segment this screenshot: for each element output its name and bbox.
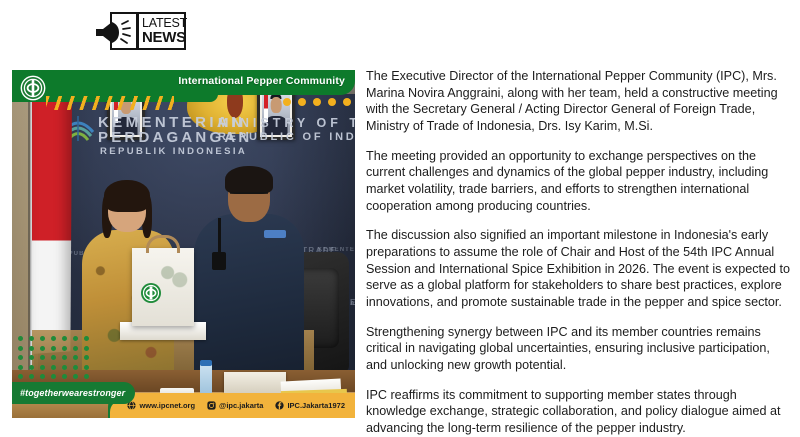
dot <box>40 374 45 379</box>
dot <box>51 355 56 360</box>
photo-footer-bar: www.ipcnet.org @ipc.jakarta IPC.Jakarta1… <box>120 393 355 418</box>
instagram-label: @ipc.jakarta <box>219 401 263 410</box>
ipc-tote-bag <box>132 248 194 326</box>
dot <box>62 336 67 341</box>
footer-link-website[interactable]: www.ipcnet.org <box>127 397 195 415</box>
tote-artwork <box>158 260 190 296</box>
backdrop-ministry-id-3: REPUBLIK INDONESIA <box>100 146 247 157</box>
dot <box>18 365 23 370</box>
person-lanyard <box>218 218 221 256</box>
person-glasses <box>230 192 268 203</box>
dot <box>84 346 89 351</box>
dot <box>40 365 45 370</box>
ipc-logo-icon <box>20 75 46 101</box>
dot <box>18 346 23 351</box>
ipc-logo-icon <box>140 282 162 304</box>
badge-divider <box>136 12 139 50</box>
dot <box>29 346 34 351</box>
backdrop-ministry-en-1: MINISTRY OF TRADE <box>218 116 355 130</box>
article-paragraph: Strengthening synergy between IPC and it… <box>366 324 794 374</box>
dot <box>29 355 34 360</box>
dot <box>40 346 45 351</box>
backdrop-ministry-en-2: REPUBLIC OF INDONESIA <box>218 131 355 143</box>
shirt-logo <box>264 230 286 238</box>
website-label: www.ipcnet.org <box>139 401 195 410</box>
facebook-icon <box>275 397 284 415</box>
dot <box>51 336 56 341</box>
instagram-icon <box>207 397 216 415</box>
hashtag-label: #togetherwearestronger <box>20 388 125 398</box>
megaphone-icon <box>92 18 136 46</box>
photo-header-title: International Pepper Community <box>178 75 345 87</box>
badge-line-news: NEWS <box>142 30 186 45</box>
dot <box>40 336 45 341</box>
person-id-badge <box>212 252 226 270</box>
footer-link-instagram[interactable]: @ipc.jakarta <box>207 397 263 415</box>
dot <box>51 374 56 379</box>
indonesian-flag <box>32 84 72 354</box>
latest-news-badge: LATEST NEWS <box>92 10 188 52</box>
dot <box>298 98 306 106</box>
facebook-label: IPC.Jakarta1972 <box>287 401 345 410</box>
dot <box>73 374 78 379</box>
person-hair-top <box>104 180 150 212</box>
dot <box>40 355 45 360</box>
water-bottle <box>200 362 212 394</box>
dot <box>51 346 56 351</box>
dot <box>29 374 34 379</box>
badge-text: LATEST NEWS <box>142 15 186 47</box>
article-paragraph: The meeting provided an opportunity to e… <box>366 148 794 215</box>
article-paragraph: IPC reaffirms its commitment to supporti… <box>366 387 794 437</box>
dot <box>62 346 67 351</box>
article-body: The Executive Director of the Internatio… <box>366 68 794 437</box>
dot <box>343 98 351 106</box>
dot <box>328 98 336 106</box>
dot <box>29 365 34 370</box>
dot <box>18 336 23 341</box>
hashtag-badge: #togetherwearestronger <box>12 382 135 404</box>
dot <box>51 365 56 370</box>
dot <box>18 374 23 379</box>
dot <box>84 336 89 341</box>
dot <box>313 98 321 106</box>
dot <box>84 374 89 379</box>
dot <box>84 355 89 360</box>
dot <box>62 374 67 379</box>
dot <box>73 346 78 351</box>
bottle-cap <box>200 360 212 366</box>
person-hair <box>225 166 273 194</box>
dot <box>62 365 67 370</box>
article-paragraph: The discussion also signified an importa… <box>366 227 794 310</box>
dot <box>73 336 78 341</box>
dot <box>73 365 78 370</box>
dot <box>62 355 67 360</box>
badge-line-latest: LATEST <box>142 17 186 30</box>
dot <box>73 355 78 360</box>
orange-dots-decoration <box>271 98 351 108</box>
dot <box>283 98 291 106</box>
yellow-stripes-decoration <box>46 96 174 110</box>
dot <box>29 336 34 341</box>
tote-handle <box>146 235 180 253</box>
dot <box>84 365 89 370</box>
dot <box>18 355 23 360</box>
article-paragraph: The Executive Director of the Internatio… <box>366 68 794 135</box>
footer-link-facebook[interactable]: IPC.Jakarta1972 <box>275 397 345 415</box>
news-photo: KEMENTERIAN PERDAGANGAN REPUBLIK INDONES… <box>12 70 355 418</box>
